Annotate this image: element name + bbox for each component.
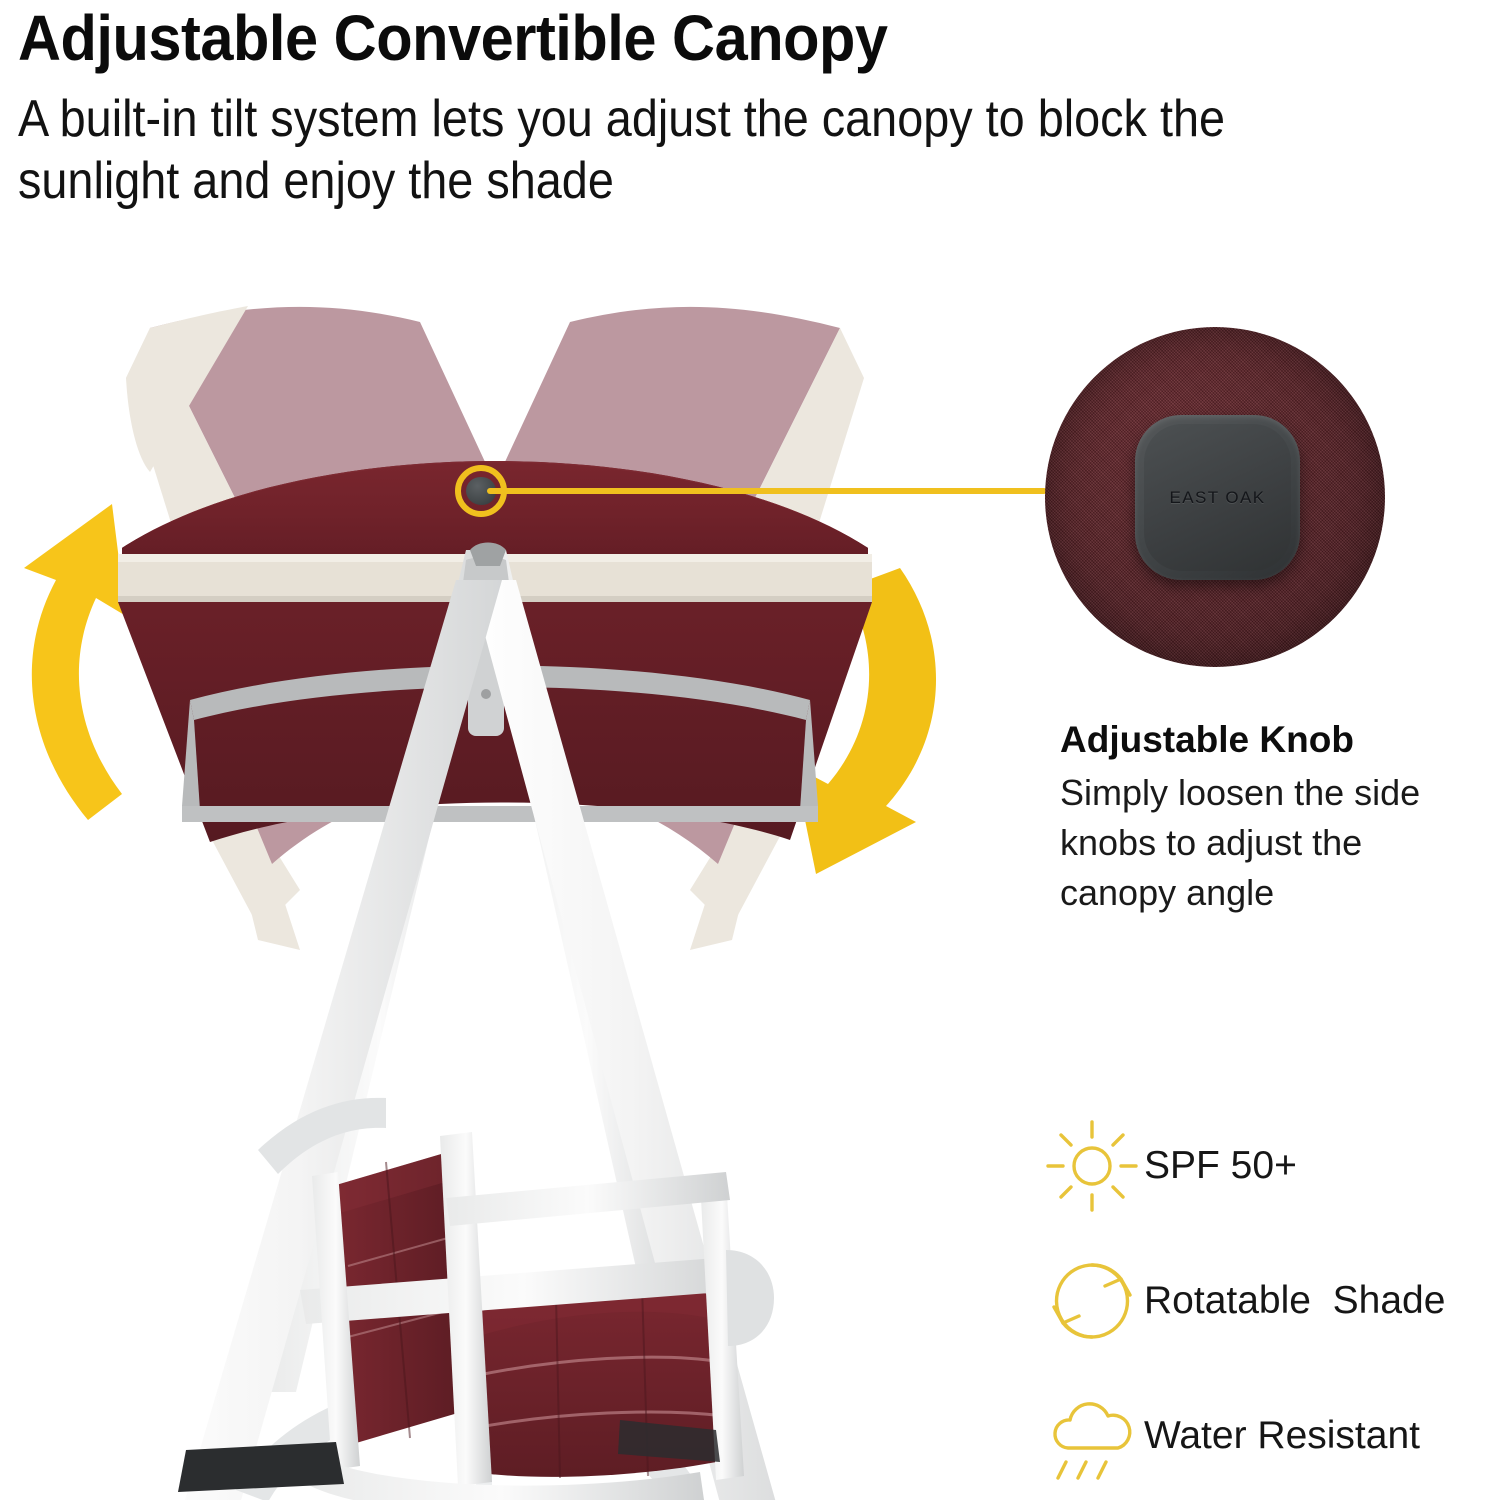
feature-list: SPF 50+ Rotatable Shade Water Resistant: [1040, 1098, 1490, 1503]
feature-label-rotatable: Rotatable Shade: [1144, 1278, 1445, 1324]
feature-item-water: Water Resistant: [1040, 1368, 1490, 1503]
feature-label-spf: SPF 50+: [1144, 1143, 1297, 1189]
knob-caption-title: Adjustable Knob: [1060, 718, 1480, 762]
sun-icon: [1040, 1114, 1144, 1218]
knob-detail-callout: EAST OAK: [1045, 327, 1385, 667]
header-text-block: Adjustable Convertible Canopy A built-in…: [18, 2, 1418, 212]
page-title: Adjustable Convertible Canopy: [18, 2, 1320, 74]
tilt-arrow-left-icon: [24, 504, 126, 820]
rain-cloud-icon: [1040, 1384, 1144, 1488]
brand-label: EAST OAK: [1170, 488, 1266, 508]
knob-caption-body: Simply loosen the side knobs to adjust t…: [1060, 768, 1480, 918]
knob-cap: EAST OAK: [1135, 415, 1300, 580]
callout-leader-line: [487, 488, 1047, 494]
product-illustration: [0, 250, 1010, 1500]
feature-label-water: Water Resistant: [1144, 1413, 1420, 1459]
feature-item-spf: SPF 50+: [1040, 1098, 1490, 1233]
knob-caption: Adjustable Knob Simply loosen the side k…: [1060, 718, 1480, 918]
page-subtitle: A built-in tilt system lets you adjust t…: [18, 88, 1278, 212]
knob-fabric-background: EAST OAK: [1045, 327, 1385, 667]
rotate-icon: [1040, 1249, 1144, 1353]
feature-item-rotatable: Rotatable Shade: [1040, 1233, 1490, 1368]
